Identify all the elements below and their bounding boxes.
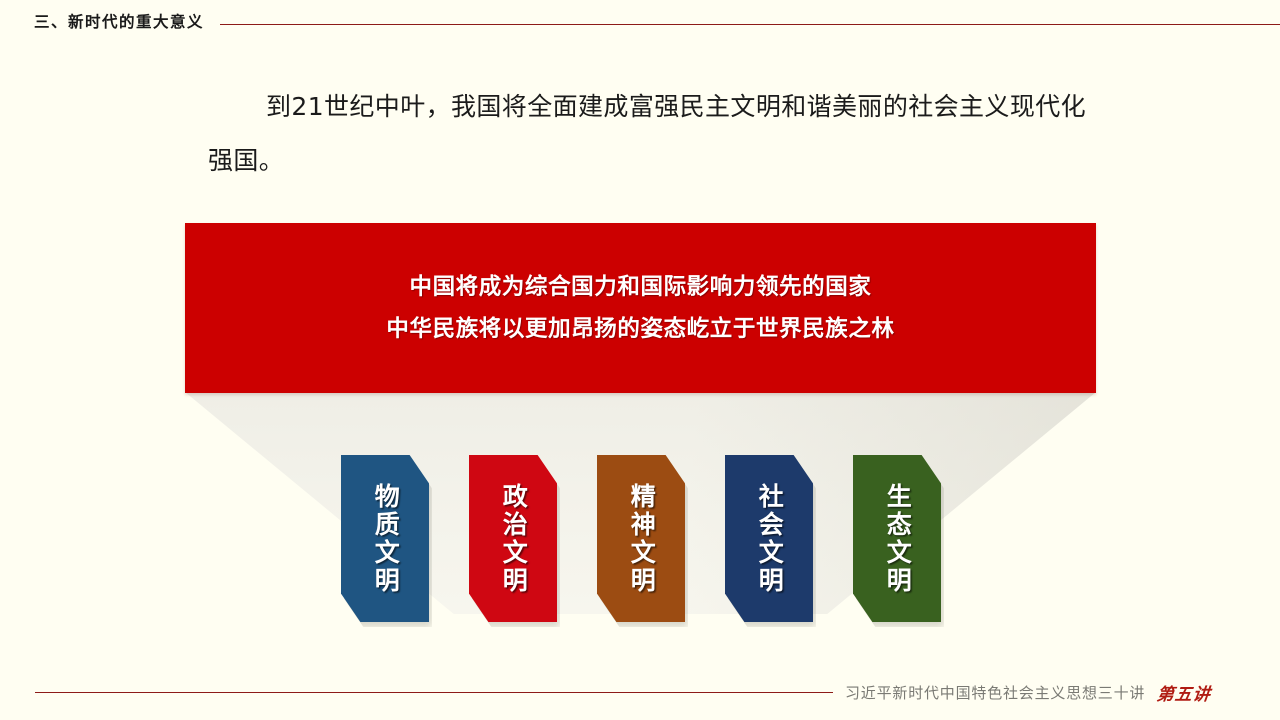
pillar-label: 精神文明 [628,483,655,595]
pillar-social-civilization[interactable]: 社会文明 [725,455,813,622]
pillar-face: 物质文明 [341,455,429,622]
pillar-ecological-civilization[interactable]: 生态文明 [853,455,941,622]
pillar-material-civilization[interactable]: 物质文明 [341,455,429,622]
pillar-label: 生态文明 [884,483,911,595]
header-divider-line [220,24,1280,25]
footer-lesson-number: 第五讲 [1156,680,1213,705]
banner-line-2: 中华民族将以更加昂扬的姿态屹立于世界民族之林 [386,308,894,350]
pillar-face: 生态文明 [853,455,941,622]
footer-divider-line [35,692,833,693]
pillar-face: 社会文明 [725,455,813,622]
red-banner: 中国将成为综合国力和国际影响力领先的国家 中华民族将以更加昂扬的姿态屹立于世界民… [185,223,1096,393]
pillar-spiritual-civilization[interactable]: 精神文明 [597,455,685,622]
pillar-label: 社会文明 [756,483,783,595]
footer-series-title: 习近平新时代中国特色社会主义思想三十讲 [845,682,1145,703]
pillar-face: 政治文明 [469,455,557,622]
pillar-label: 政治文明 [500,483,527,595]
banner-line-1: 中国将成为综合国力和国际影响力领先的国家 [409,266,871,308]
lead-paragraph: 到21世纪中叶，我国将全面建成富强民主文明和谐美丽的社会主义现代化强国。 [208,80,1088,188]
slide-header: 三、新时代的重大意义 [0,0,1280,46]
pillar-row: 物质文明 政治文明 精神文明 社会文明 生态文明 [341,455,941,625]
pillar-label: 物质文明 [372,483,399,595]
pillar-face: 精神文明 [597,455,685,622]
pillar-political-civilization[interactable]: 政治文明 [469,455,557,622]
slide-footer: 习近平新时代中国特色社会主义思想三十讲 第五讲 [0,664,1280,720]
page-title: 三、新时代的重大意义 [34,15,204,31]
